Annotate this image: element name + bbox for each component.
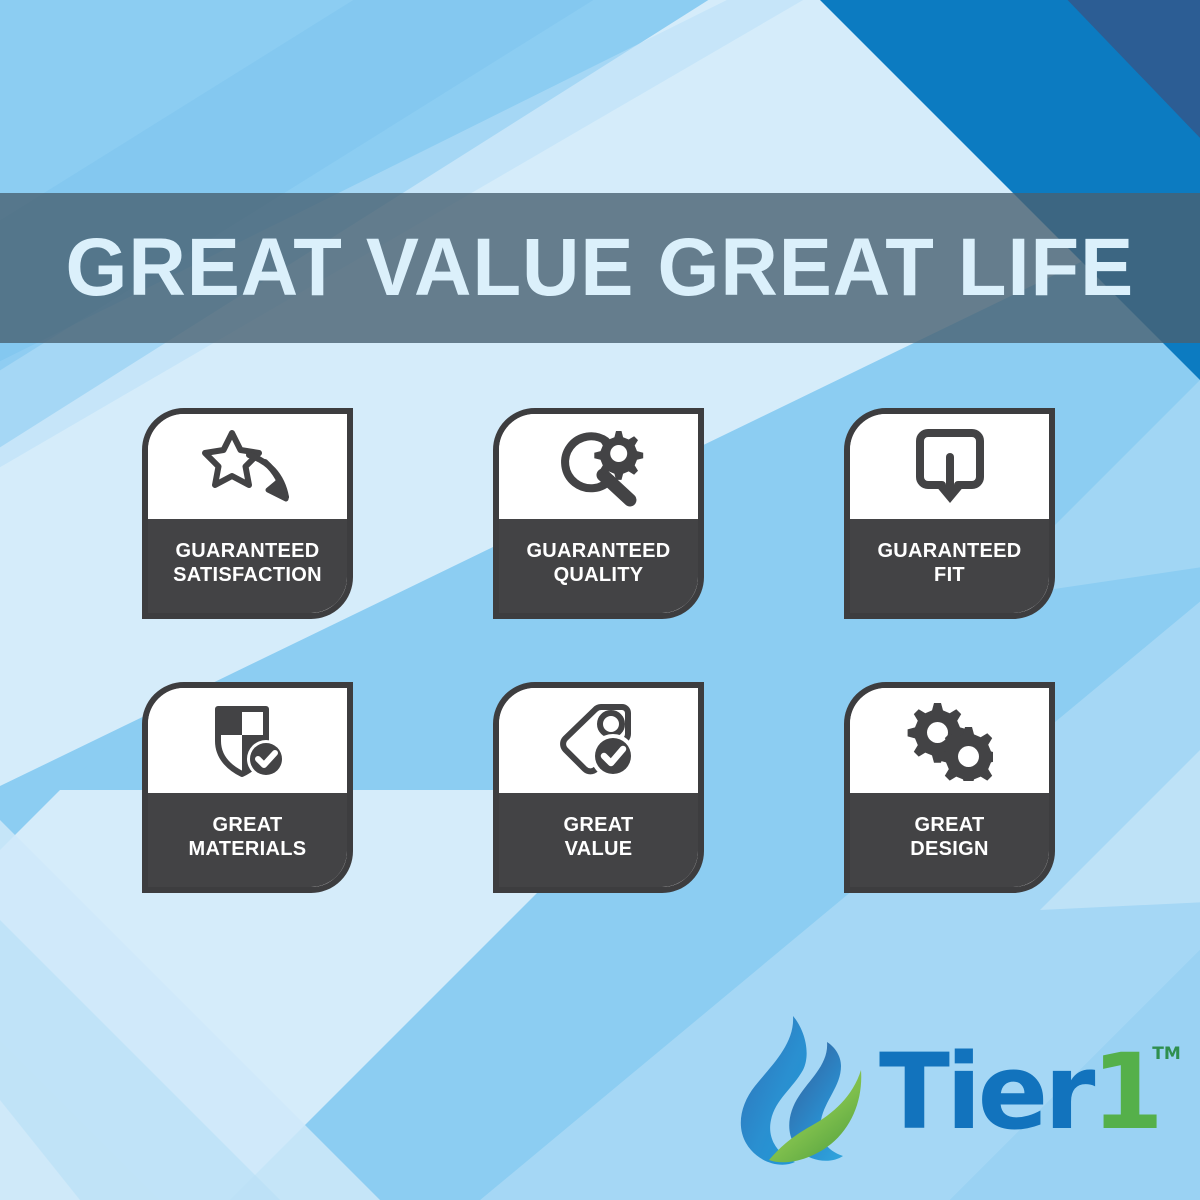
- badge-label-line2: QUALITY: [554, 563, 644, 587]
- badge-label: GUARANTEED FIT: [850, 519, 1049, 613]
- badge-row: GUARANTEED SATISFACTION: [142, 408, 1062, 619]
- badge-label-line2: SATISFACTION: [173, 563, 322, 587]
- shield-check-icon: [208, 701, 288, 781]
- badge-great-value[interactable]: GREAT VALUE: [493, 682, 704, 893]
- badge-icon-area: [148, 414, 347, 519]
- tier1-logo[interactable]: Tier1 TM: [735, 1012, 1155, 1172]
- badge-label: GREAT VALUE: [499, 793, 698, 887]
- two-gears-icon: [907, 701, 993, 781]
- feature-badge-grid: GUARANTEED SATISFACTION: [142, 408, 1062, 893]
- badge-label-line1: GREAT: [914, 813, 984, 837]
- badge-row: GREAT MATERIALS GREAT VAL: [142, 682, 1062, 893]
- logo-one-text: 1: [1091, 1031, 1159, 1153]
- logo-brand-text: Tier: [879, 1031, 1091, 1153]
- badge-label: GUARANTEED SATISFACTION: [148, 519, 347, 613]
- badge-great-design[interactable]: GREAT DESIGN: [844, 682, 1055, 893]
- price-tag-check-icon: [556, 701, 642, 781]
- logo-wordmark: Tier1 TM: [879, 1040, 1160, 1144]
- badge-icon-area: [148, 688, 347, 793]
- badge-label: GREAT MATERIALS: [148, 793, 347, 887]
- badge-label: GUARANTEED QUALITY: [499, 519, 698, 613]
- tier1-flame-leaf-icon: [735, 1014, 865, 1170]
- page-title: GREAT VALUE GREAT LIFE: [66, 227, 1135, 309]
- badge-label-line1: GREAT: [212, 813, 282, 837]
- magnifier-gear-icon: [554, 427, 644, 507]
- promo-graphic: GREAT VALUE GREAT LIFE: [0, 0, 1200, 1200]
- badge-label-line2: FIT: [934, 563, 965, 587]
- badge-icon-area: [850, 688, 1049, 793]
- badge-icon-area: [499, 688, 698, 793]
- badge-label-line2: VALUE: [565, 837, 633, 861]
- badge-icon-area: [850, 414, 1049, 519]
- trademark-symbol: TM: [1152, 1046, 1181, 1063]
- download-fit-arrow-icon: [912, 427, 988, 507]
- badge-label-line1: GUARANTEED: [877, 539, 1021, 563]
- badge-label-line2: DESIGN: [910, 837, 988, 861]
- badge-guaranteed-fit[interactable]: GUARANTEED FIT: [844, 408, 1055, 619]
- badge-label-line2: MATERIALS: [189, 837, 307, 861]
- shooting-star-icon: [202, 427, 294, 507]
- badge-label: GREAT DESIGN: [850, 793, 1049, 887]
- headline-banner: GREAT VALUE GREAT LIFE: [0, 193, 1200, 343]
- badge-label-line1: GUARANTEED: [526, 539, 670, 563]
- badge-guaranteed-satisfaction[interactable]: GUARANTEED SATISFACTION: [142, 408, 353, 619]
- badge-icon-area: [499, 414, 698, 519]
- badge-great-materials[interactable]: GREAT MATERIALS: [142, 682, 353, 893]
- badge-label-line1: GREAT: [563, 813, 633, 837]
- badge-label-line1: GUARANTEED: [175, 539, 319, 563]
- badge-guaranteed-quality[interactable]: GUARANTEED QUALITY: [493, 408, 704, 619]
